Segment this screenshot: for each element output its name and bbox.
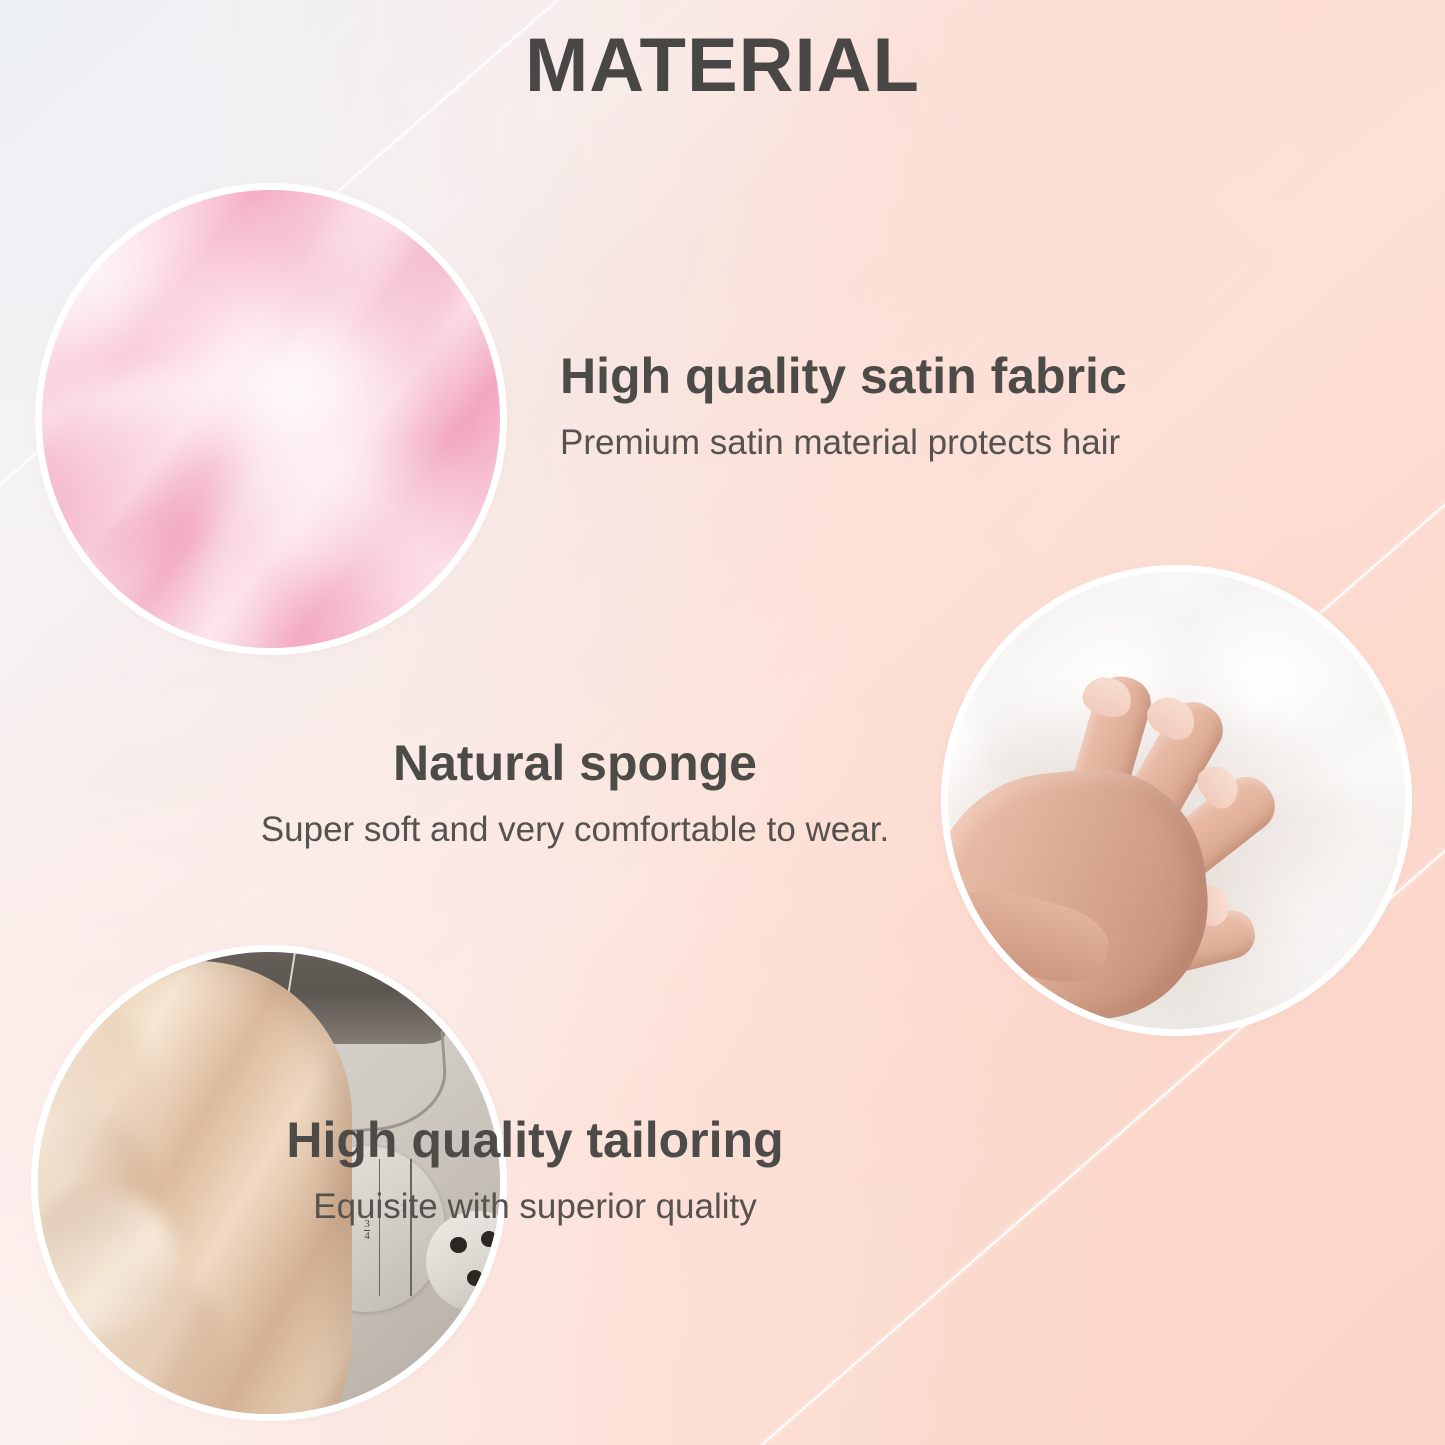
feature-title-natural-sponge: Natural sponge: [0, 735, 1150, 791]
feature-subtitle-tailoring: Equisite with superior quality: [0, 1186, 1070, 1228]
feature-image-satin-fabric: [42, 190, 500, 648]
feature-subtitle-natural-sponge: Super soft and very comfortable to wear.: [0, 809, 1150, 851]
satin-fabric-art: [42, 190, 500, 648]
bobbin-hole: [467, 1270, 483, 1286]
hand-art: [948, 682, 1304, 1029]
page-title: MATERIAL: [0, 26, 1445, 106]
material-infographic: MATERIAL High quality satin fabric Premi…: [0, 0, 1445, 1445]
bobbin-hole: [450, 1237, 466, 1253]
bobbin-hole: [481, 1231, 497, 1247]
feature-subtitle-satin-fabric: Premium satin material protects hair: [560, 422, 1127, 464]
feature-text-satin-fabric: High quality satin fabric Premium satin …: [560, 348, 1127, 464]
feature-text-natural-sponge: Natural sponge Super soft and very comfo…: [0, 735, 1150, 851]
feature-title-tailoring: High quality tailoring: [0, 1112, 1070, 1168]
feature-title-satin-fabric: High quality satin fabric: [560, 348, 1127, 404]
feature-text-tailoring: High quality tailoring Equisite with sup…: [0, 1112, 1070, 1228]
